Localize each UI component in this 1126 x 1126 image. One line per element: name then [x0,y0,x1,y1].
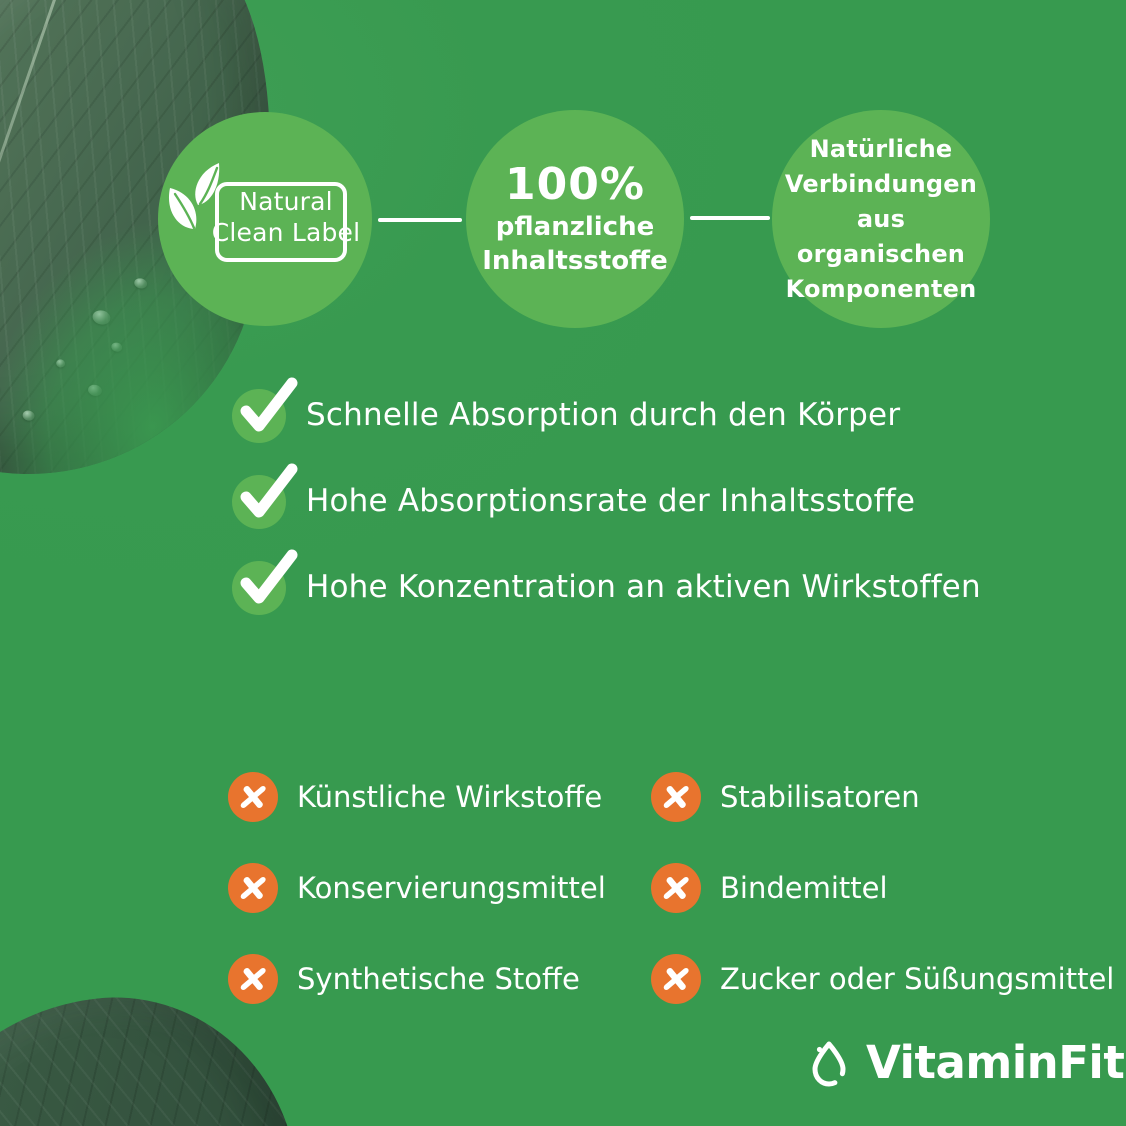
circle-natural-compounds: Natürliche Verbindungen aus organischen … [772,110,990,328]
excluded-label: Stabilisatoren [720,780,920,814]
excluded-row: Künstliche Wirkstoffe Stabilisatoren [0,772,1126,863]
excluded-item: Bindemittel [651,863,888,913]
hundred-percent-sub-1: pflanzliche [482,210,668,244]
excluded-row: Konservierungsmittel Bindemittel [0,863,1126,954]
check-icon [232,557,292,617]
brand-logo: VitaminFit ® [806,1036,1126,1089]
benefit-label: Schnelle Absorption durch den Körper [306,397,900,433]
circle-hundred-percent: 100% pflanzliche Inhaltsstoffe [466,110,684,328]
benefit-row: Hohe Konzentration an aktiven Wirkstoffe… [0,544,1126,630]
connector-line-1 [378,218,462,222]
compounds-line-1: Natürliche [772,132,990,167]
excluded-item: Künstliche Wirkstoffe [228,772,602,822]
benefit-label: Hohe Konzentration an aktiven Wirkstoffe… [306,569,981,605]
benefit-label: Hohe Absorptionsrate der Inhaltsstoffe [306,483,915,519]
cross-icon [651,954,701,1004]
check-icon [232,385,292,445]
clean-label-line-2: Clean Label [211,217,361,248]
cross-icon [228,954,278,1004]
connector-line-2 [690,216,770,220]
compounds-line-4: Komponenten [772,272,990,307]
excluded-label: Zucker oder Süßungsmittel [720,962,1114,996]
hundred-percent-sub-2: Inhaltsstoffe [482,244,668,278]
cross-icon [651,863,701,913]
brand-name: VitaminFit [866,1036,1124,1089]
compounds-line-3: aus organischen [772,202,990,272]
compounds-line-2: Verbindungen [772,167,990,202]
circle-natural-clean-label: Natural Clean Label [158,112,372,326]
benefit-row: Hohe Absorptionsrate der Inhaltsstoffe [0,458,1126,544]
excluded-item: Konservierungsmittel [228,863,606,913]
without-additives-band: OHNE Zusatzstoffe [0,624,1126,769]
benefit-row: Schnelle Absorption durch den Körper [0,372,1126,458]
infographic-poster: Natural Clean Label 100% pflanzliche Inh… [0,0,1126,1126]
feature-circle-row: Natural Clean Label 100% pflanzliche Inh… [0,0,1126,360]
cross-icon [228,772,278,822]
excluded-item: Synthetische Stoffe [228,954,580,1004]
droplet-outline-icon [806,1038,852,1088]
hundred-percent-headline: 100% [482,160,668,210]
excluded-row: Synthetische Stoffe Zucker oder Süßungsm… [0,954,1126,1045]
excluded-label: Konservierungsmittel [297,871,606,905]
excluded-item: Zucker oder Süßungsmittel [651,954,1114,1004]
excluded-label: Synthetische Stoffe [297,962,580,996]
excluded-label: Künstliche Wirkstoffe [297,780,602,814]
clean-label-line-1: Natural [211,186,361,217]
excluded-items-grid: Künstliche Wirkstoffe Stabilisatoren Ko [0,772,1126,1045]
excluded-item: Stabilisatoren [651,772,920,822]
excluded-label: Bindemittel [720,871,888,905]
benefits-list: Schnelle Absorption durch den Körper Hoh… [0,372,1126,630]
check-icon [232,471,292,531]
cross-icon [651,772,701,822]
cross-icon [228,863,278,913]
